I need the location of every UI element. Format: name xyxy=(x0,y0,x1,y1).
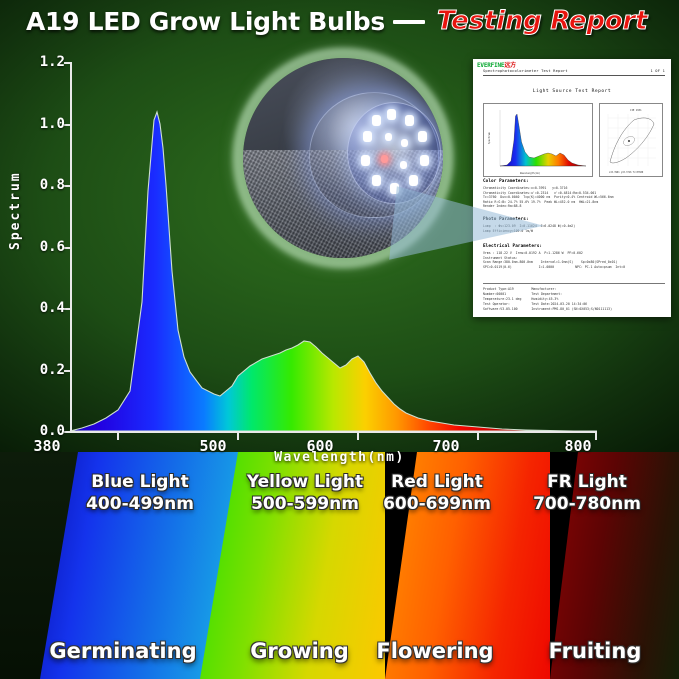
growth-stage-bands: Blue Light 400-499nm Germinating Yellow … xyxy=(0,452,679,679)
y-tick-label: 1.2 xyxy=(40,54,65,70)
y-tick-label: 0.2 xyxy=(40,362,65,378)
svg-text:Wavelength(nm): Wavelength(nm) xyxy=(520,172,540,175)
everfine-logo: EVERFINE远方 xyxy=(477,60,516,69)
svg-text:x=0.3991 y=0.3716 Tc=3760K: x=0.3991 y=0.3716 Tc=3760K xyxy=(609,171,644,174)
band-label-red: Red Light 600-699nm xyxy=(362,471,512,515)
bulb-photo xyxy=(243,58,443,258)
x-axis-title: Wavelength(nm) xyxy=(0,450,679,465)
title-accent: Testing Report xyxy=(437,6,647,36)
logo-suffix: 远方 xyxy=(504,62,516,69)
report-footer-left: Product Type:A19 Number:00001 Temperatur… xyxy=(483,287,521,312)
x-tick xyxy=(477,431,479,440)
test-report-document: EVERFINE远方 Spectrophotocolorimeter Test … xyxy=(473,59,671,317)
led-chip-red xyxy=(381,155,388,163)
y-tick xyxy=(64,370,72,372)
band-label-yellow: Yellow Light 500-599nm xyxy=(225,471,385,515)
led-chip xyxy=(418,131,427,142)
report-spectrum-chart: Wavelength(nm) Spectrum xyxy=(483,103,593,177)
cie-chromaticity-svg: CIE 1931 x=0.3991 y=0.3716 Tc=3760K xyxy=(600,104,662,176)
report-footer: Product Type:A19 Number:00001 Temperatur… xyxy=(483,283,665,312)
stage-label-germinating: Germinating xyxy=(28,639,218,663)
y-tick xyxy=(64,308,72,310)
y-tick-label: 0.8 xyxy=(40,177,65,193)
band-label-blue: Blue Light 400-499nm xyxy=(70,471,210,515)
y-axis-title: Spectrum xyxy=(8,171,23,250)
band-name: Red Light xyxy=(362,471,512,493)
band-range: 700-780nm xyxy=(512,493,662,515)
led-chip xyxy=(385,133,392,141)
led-chip xyxy=(387,109,396,120)
report-section-heading: Color Parameters: xyxy=(483,179,529,184)
led-chip xyxy=(372,175,381,186)
x-tick xyxy=(117,431,119,440)
report-header-right: 1 OF 1 xyxy=(650,69,665,73)
led-chip xyxy=(401,139,408,147)
x-tick xyxy=(237,431,239,440)
report-footer-right: Manufacturer: Test Department: Humidity:… xyxy=(531,287,612,312)
infographic-root: 1.2 1.0 0.8 0.6 0.4 0.2 0.0 Spectrum 380… xyxy=(0,0,679,679)
y-tick xyxy=(64,62,72,64)
y-tick xyxy=(64,247,72,249)
stage-label-fruiting: Fruiting xyxy=(520,639,670,663)
band-name: FR Light xyxy=(512,471,662,493)
led-chip xyxy=(372,115,381,126)
header: A19 LED Grow Light Bulbs Testing Report xyxy=(0,0,679,48)
y-tick xyxy=(64,185,72,187)
led-chip xyxy=(361,155,370,166)
x-tick xyxy=(357,431,359,440)
y-tick-label: 0.6 xyxy=(40,239,65,255)
band-label-fr: FR Light 700-780nm xyxy=(512,471,662,515)
led-chip xyxy=(409,175,418,186)
y-tick-label: 1.0 xyxy=(40,116,65,132)
led-chip xyxy=(400,161,407,169)
band-name: Blue Light xyxy=(70,471,210,493)
report-spectrum-svg: Wavelength(nm) Spectrum xyxy=(484,104,592,176)
svg-text:Spectrum: Spectrum xyxy=(488,132,491,144)
svg-text:CIE 1931: CIE 1931 xyxy=(630,109,642,112)
y-tick-label: 0.4 xyxy=(40,300,65,316)
title-separator-dash xyxy=(393,20,425,24)
stage-label-flowering: Flowering xyxy=(345,639,525,663)
led-chip xyxy=(405,115,414,126)
x-axis-line xyxy=(70,431,597,433)
report-cie-diagram: CIE 1931 x=0.3991 y=0.3716 Tc=3760K xyxy=(599,103,663,177)
led-chip xyxy=(420,155,429,166)
y-tick xyxy=(64,124,72,126)
band-range: 400-499nm xyxy=(70,493,210,515)
report-header-left: Spectrophotocolorimeter Test Report xyxy=(483,69,568,73)
report-header: Spectrophotocolorimeter Test Report 1 OF… xyxy=(483,69,665,76)
band-name: Yellow Light xyxy=(225,471,385,493)
page-title: A19 LED Grow Light Bulbs xyxy=(26,7,385,36)
y-tick xyxy=(64,431,72,433)
band-range: 600-699nm xyxy=(362,493,512,515)
report-doc-title: Light Source Test Report xyxy=(473,89,671,94)
x-tick xyxy=(595,431,597,440)
band-range: 500-599nm xyxy=(225,493,385,515)
led-chip xyxy=(363,131,372,142)
callout-beam xyxy=(389,186,546,275)
